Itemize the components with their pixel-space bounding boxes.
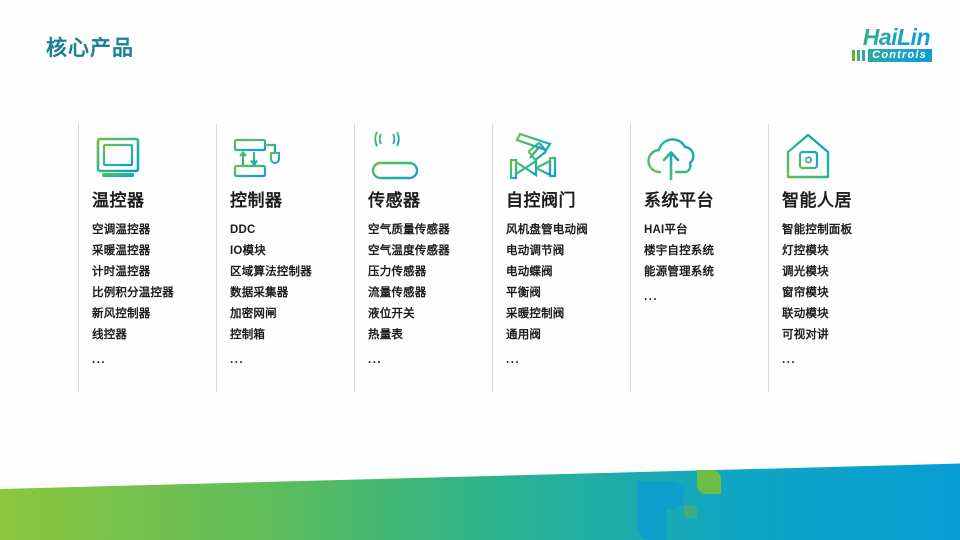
list-item: 热量表 bbox=[368, 325, 492, 346]
product-column-sensors: 传感器 空气质量传感器 空气温度传感器 压力传感器 流量传感器 液位开关 热量表… bbox=[354, 124, 492, 392]
list-item: 计时温控器 bbox=[92, 262, 216, 283]
list-item: 楼宇自控系统 bbox=[644, 241, 768, 262]
logo-wordmark: HaiLin bbox=[808, 26, 932, 48]
column-item-list: 智能控制面板 灯控模块 调光模块 窗帘模块 联动模块 可视对讲 ... bbox=[782, 220, 906, 371]
logo-bars-icon bbox=[852, 50, 865, 61]
list-item: 窗帘模块 bbox=[782, 283, 906, 304]
controller-rack-icon bbox=[230, 124, 354, 184]
deco-square-green-large bbox=[697, 470, 721, 494]
list-item: 空调温控器 bbox=[92, 220, 216, 241]
list-item: 采暖控制阀 bbox=[506, 304, 630, 325]
list-item: IO模块 bbox=[230, 241, 354, 262]
list-item: 联动模块 bbox=[782, 304, 906, 325]
column-item-list: HAI平台 楼宇自控系统 能源管理系统 ... bbox=[644, 220, 768, 308]
list-item: 采暖温控器 bbox=[92, 241, 216, 262]
list-item: 液位开关 bbox=[368, 304, 492, 325]
logo-subtext: Controls bbox=[868, 49, 932, 62]
list-item: 控制箱 bbox=[230, 325, 354, 346]
bottom-decoration-band bbox=[0, 442, 960, 540]
list-item-more: ... bbox=[230, 346, 354, 371]
list-item: 新风控制器 bbox=[92, 304, 216, 325]
list-item: 通用阀 bbox=[506, 325, 630, 346]
thermostat-monitor-icon bbox=[92, 124, 216, 184]
column-title: 温控器 bbox=[92, 192, 216, 211]
product-column-valves: 自控阀门 风机盘管电动阀 电动调节阀 电动蝶阀 平衡阀 采暖控制阀 通用阀 ..… bbox=[492, 124, 630, 392]
product-column-thermostats: 温控器 空调温控器 采暖温控器 计时温控器 比例积分温控器 新风控制器 线控器 … bbox=[78, 124, 216, 392]
list-item: 智能控制面板 bbox=[782, 220, 906, 241]
list-item: 空气温度传感器 bbox=[368, 241, 492, 262]
sensor-antenna-icon bbox=[368, 124, 492, 184]
column-title: 自控阀门 bbox=[506, 192, 630, 211]
column-title: 传感器 bbox=[368, 192, 492, 211]
product-column-smart-home: 智能人居 智能控制面板 灯控模块 调光模块 窗帘模块 联动模块 可视对讲 ... bbox=[768, 124, 906, 392]
list-item: 空气质量传感器 bbox=[368, 220, 492, 241]
list-item: 数据采集器 bbox=[230, 283, 354, 304]
list-item: 可视对讲 bbox=[782, 325, 906, 346]
list-item: 调光模块 bbox=[782, 262, 906, 283]
list-item: 区域算法控制器 bbox=[230, 262, 354, 283]
column-title: 控制器 bbox=[230, 192, 354, 211]
list-item-more: ... bbox=[92, 346, 216, 371]
list-item: 比例积分温控器 bbox=[92, 283, 216, 304]
column-item-list: 风机盘管电动阀 电动调节阀 电动蝶阀 平衡阀 采暖控制阀 通用阀 ... bbox=[506, 220, 630, 371]
column-item-list: 空气质量传感器 空气温度传感器 压力传感器 流量传感器 液位开关 热量表 ... bbox=[368, 220, 492, 371]
list-item: 压力传感器 bbox=[368, 262, 492, 283]
slide-root: 核心产品 HaiLin Controls bbox=[0, 0, 960, 540]
gradient-band bbox=[0, 442, 960, 540]
list-item: 线控器 bbox=[92, 325, 216, 346]
product-columns: 温控器 空调温控器 采暖温控器 计时温控器 比例积分温控器 新风控制器 线控器 … bbox=[78, 124, 906, 392]
column-item-list: DDC IO模块 区域算法控制器 数据采集器 加密网闸 控制箱 ... bbox=[230, 220, 354, 371]
list-item: 电动蝶阀 bbox=[506, 262, 630, 283]
list-item: 灯控模块 bbox=[782, 241, 906, 262]
column-title: 系统平台 bbox=[644, 192, 768, 211]
cloud-upload-icon bbox=[644, 124, 768, 184]
product-column-controllers: 控制器 DDC IO模块 区域算法控制器 数据采集器 加密网闸 控制箱 ... bbox=[216, 124, 354, 392]
page-title: 核心产品 bbox=[46, 38, 134, 59]
deco-square-blue bbox=[638, 481, 666, 540]
list-item: HAI平台 bbox=[644, 220, 768, 241]
hailin-logo: HaiLin Controls bbox=[808, 26, 932, 70]
logo-subline: Controls bbox=[808, 49, 932, 62]
column-item-list: 空调温控器 采暖温控器 计时温控器 比例积分温控器 新风控制器 线控器 ... bbox=[92, 220, 216, 371]
list-item: 加密网闸 bbox=[230, 304, 354, 325]
list-item-more: ... bbox=[782, 346, 906, 371]
list-item-more: ... bbox=[368, 346, 492, 371]
list-item: DDC bbox=[230, 220, 354, 241]
list-item-more: ... bbox=[506, 346, 630, 371]
list-item: 能源管理系统 bbox=[644, 262, 768, 283]
list-item: 流量传感器 bbox=[368, 283, 492, 304]
list-item: 风机盘管电动阀 bbox=[506, 220, 630, 241]
product-column-platforms: 系统平台 HAI平台 楼宇自控系统 能源管理系统 ... bbox=[630, 124, 768, 392]
control-valve-icon bbox=[506, 124, 630, 184]
list-item: 平衡阀 bbox=[506, 283, 630, 304]
list-item: 电动调节阀 bbox=[506, 241, 630, 262]
list-item-more: ... bbox=[644, 283, 768, 308]
deco-square-green-small bbox=[684, 505, 697, 518]
column-title: 智能人居 bbox=[782, 192, 906, 211]
smart-home-chip-icon bbox=[782, 124, 906, 184]
